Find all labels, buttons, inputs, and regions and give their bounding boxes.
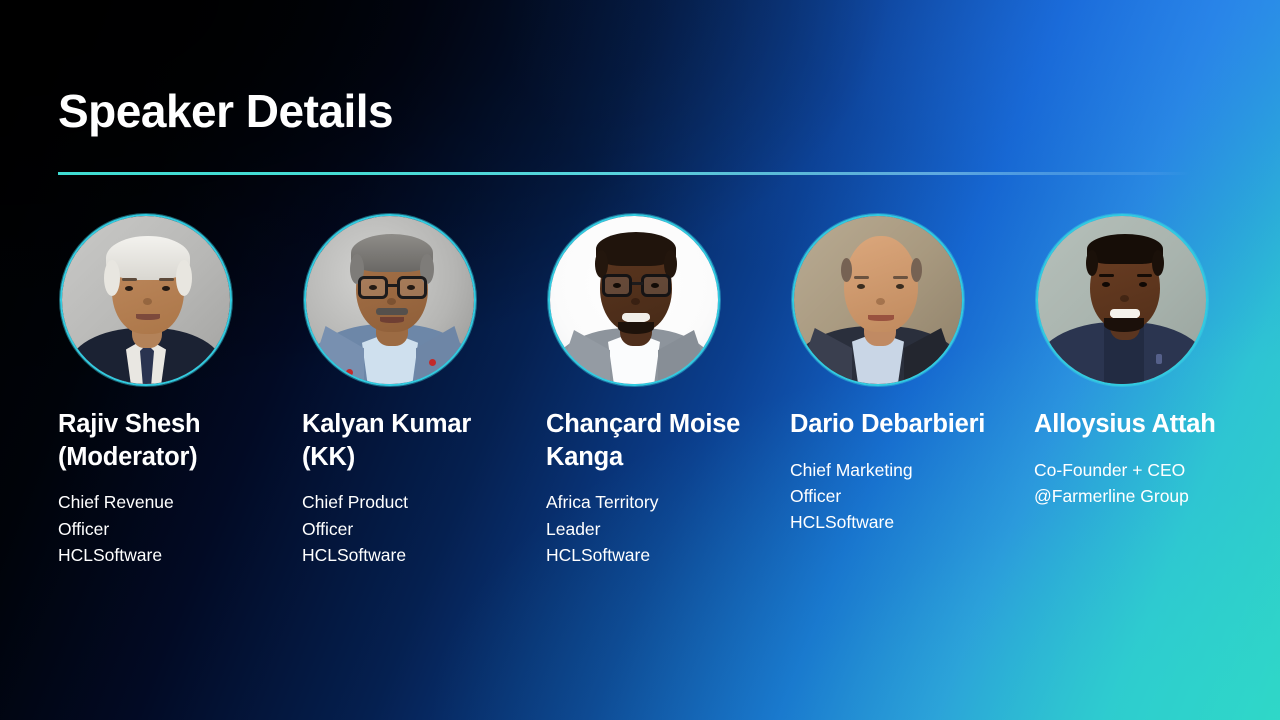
slide-canvas: Speaker Details: [0, 0, 1280, 720]
speaker-role: Chief Marketing Officer HCLSoftware: [790, 457, 1022, 536]
speaker-role: Chief Product Officer HCLSoftware: [302, 489, 534, 568]
portrait-kalyan-kumar: [306, 216, 474, 384]
speaker-name: Rajiv Shesh (Moderator): [58, 408, 296, 473]
avatar: [304, 214, 476, 386]
speaker-card-1[interactable]: Rajiv Shesh (Moderator) Chief Revenue Of…: [58, 214, 302, 568]
speaker-list: Rajiv Shesh (Moderator) Chief Revenue Of…: [58, 214, 1280, 568]
portrait-alloysius-attah: [1038, 216, 1206, 384]
header: Speaker Details: [58, 88, 393, 134]
speaker-role: Chief Revenue Officer HCLSoftware: [58, 489, 290, 568]
page-title: Speaker Details: [58, 88, 393, 134]
avatar-wrap-2: [304, 214, 476, 386]
speaker-name: Chançard Moise Kanga: [546, 408, 784, 473]
speaker-card-2[interactable]: Kalyan Kumar (KK) Chief Product Officer …: [302, 214, 546, 568]
speaker-role: Africa Territory Leader HCLSoftware: [546, 489, 778, 568]
speaker-card-3[interactable]: Chançard Moise Kanga Africa Territory Le…: [546, 214, 790, 568]
avatar-wrap-5: [1036, 214, 1208, 386]
avatar: [792, 214, 964, 386]
portrait-dario-debarbieri: [794, 216, 962, 384]
title-divider: [58, 172, 1190, 175]
avatar-wrap-3: [548, 214, 720, 386]
avatar: [548, 214, 720, 386]
portrait-chancard-moise-kanga: [550, 216, 718, 384]
avatar: [1036, 214, 1208, 386]
speaker-card-5[interactable]: Alloysius Attah Co-Founder + CEO @Farmer…: [1034, 214, 1278, 568]
speaker-card-4[interactable]: Dario Debarbieri Chief Marketing Officer…: [790, 214, 1034, 568]
avatar: [60, 214, 232, 386]
avatar-wrap-1: [60, 214, 232, 386]
speaker-role: Co-Founder + CEO @Farmerline Group: [1034, 457, 1280, 510]
speaker-name: Alloysius Attah: [1034, 408, 1272, 441]
avatar-wrap-4: [792, 214, 964, 386]
speaker-name: Dario Debarbieri: [790, 408, 1028, 441]
portrait-rajiv-shesh: [62, 216, 230, 384]
speaker-name: Kalyan Kumar (KK): [302, 408, 540, 473]
